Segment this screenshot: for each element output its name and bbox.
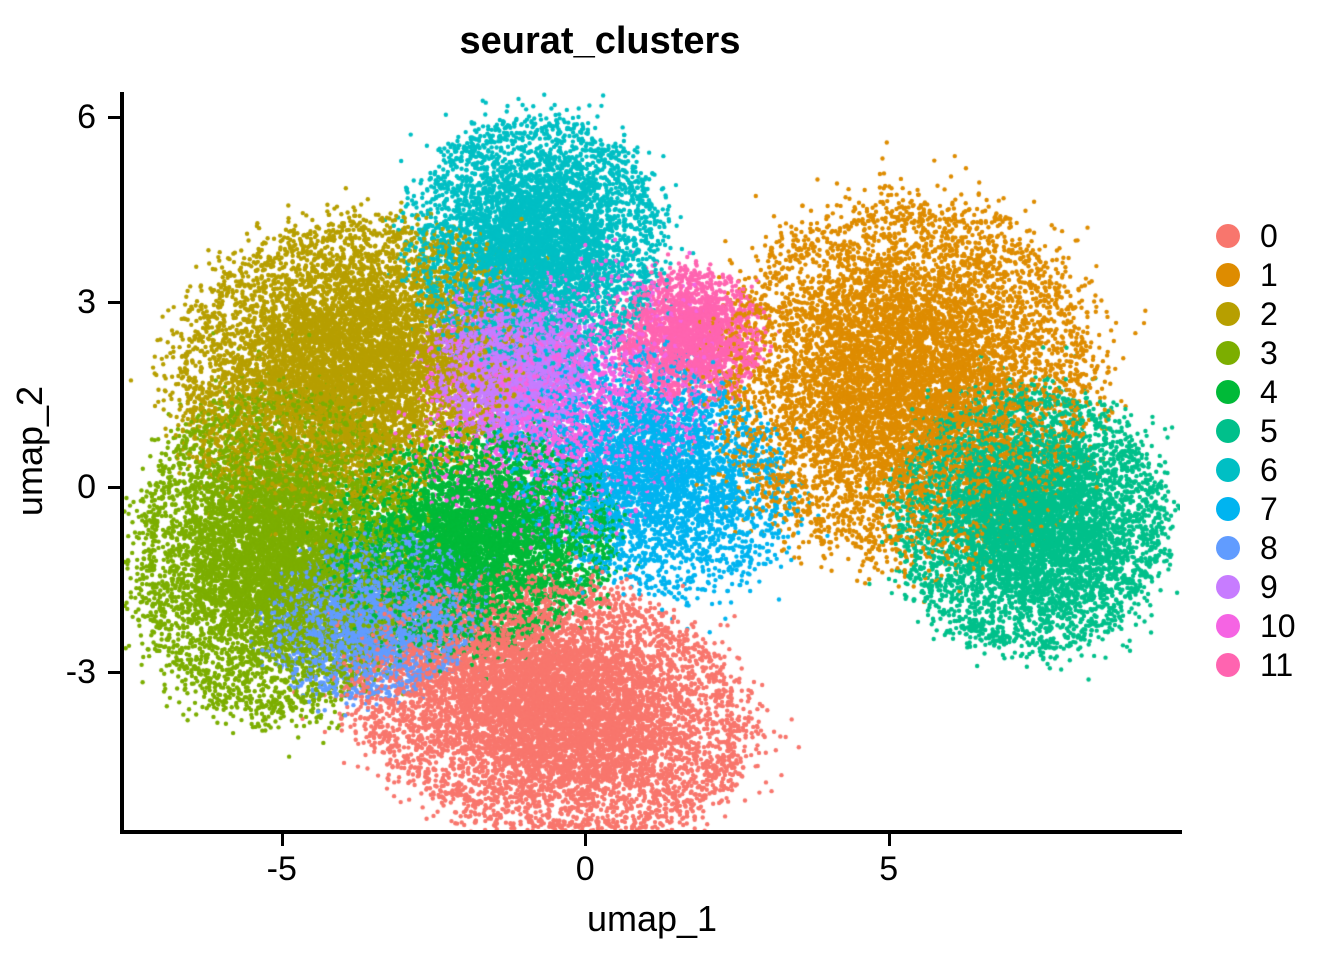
y-axis-line (120, 92, 124, 834)
legend-item-10[interactable]: 10 (1216, 606, 1336, 645)
legend-item-label: 8 (1260, 532, 1278, 564)
legend-item-label: 4 (1260, 376, 1278, 408)
x-axis-title: umap_1 (124, 898, 1180, 940)
y-tick-label: 6 (26, 100, 96, 134)
legend-item-0[interactable]: 0 (1216, 216, 1336, 255)
legend-color-dot-icon (1216, 263, 1240, 287)
legend-color-dot-icon (1216, 536, 1240, 560)
legend-item-label: 0 (1260, 220, 1278, 252)
plot-panel (124, 92, 1180, 832)
y-tick-mark (108, 116, 120, 119)
legend-color-dot-icon (1216, 302, 1240, 326)
x-axis-line (120, 830, 1182, 834)
legend-color-dot-icon (1216, 224, 1240, 248)
legend-item-5[interactable]: 5 (1216, 411, 1336, 450)
legend-color-dot-icon (1216, 653, 1240, 677)
legend-item-4[interactable]: 4 (1216, 372, 1336, 411)
legend-item-9[interactable]: 9 (1216, 567, 1336, 606)
x-tick-mark (584, 834, 587, 846)
legend-item-label: 6 (1260, 454, 1278, 486)
y-axis-title: umap_2 (9, 301, 51, 601)
legend-item-1[interactable]: 1 (1216, 255, 1336, 294)
legend-item-6[interactable]: 6 (1216, 450, 1336, 489)
x-tick-label: -5 (242, 850, 322, 889)
legend-item-label: 11 (1260, 649, 1293, 681)
legend-color-dot-icon (1216, 380, 1240, 404)
y-tick-mark (108, 486, 120, 489)
legend-item-2[interactable]: 2 (1216, 294, 1336, 333)
page-title: seurat_clusters (0, 20, 1200, 63)
legend-item-3[interactable]: 3 (1216, 333, 1336, 372)
legend-color-dot-icon (1216, 497, 1240, 521)
scatter-canvas (124, 92, 1180, 832)
legend-item-8[interactable]: 8 (1216, 528, 1336, 567)
legend-item-label: 5 (1260, 415, 1278, 447)
legend-item-label: 10 (1260, 610, 1296, 642)
umap-cluster-plot: seurat_clusters -3036 -505 umap_1 umap_2… (0, 0, 1344, 960)
legend-item-label: 1 (1260, 259, 1278, 291)
legend: 01234567891011 (1216, 216, 1336, 684)
legend-item-label: 7 (1260, 493, 1278, 525)
x-tick-label: 5 (849, 850, 929, 889)
legend-color-dot-icon (1216, 419, 1240, 443)
legend-item-label: 9 (1260, 571, 1278, 603)
y-tick-mark (108, 671, 120, 674)
y-tick-mark (108, 301, 120, 304)
y-tick-label: -3 (26, 655, 96, 689)
legend-item-7[interactable]: 7 (1216, 489, 1336, 528)
legend-item-label: 3 (1260, 337, 1278, 369)
legend-color-dot-icon (1216, 614, 1240, 638)
x-tick-mark (281, 834, 284, 846)
x-tick-label: 0 (545, 850, 625, 889)
x-tick-mark (888, 834, 891, 846)
legend-color-dot-icon (1216, 341, 1240, 365)
legend-color-dot-icon (1216, 458, 1240, 482)
legend-color-dot-icon (1216, 575, 1240, 599)
legend-item-11[interactable]: 11 (1216, 645, 1336, 684)
legend-item-label: 2 (1260, 298, 1278, 330)
